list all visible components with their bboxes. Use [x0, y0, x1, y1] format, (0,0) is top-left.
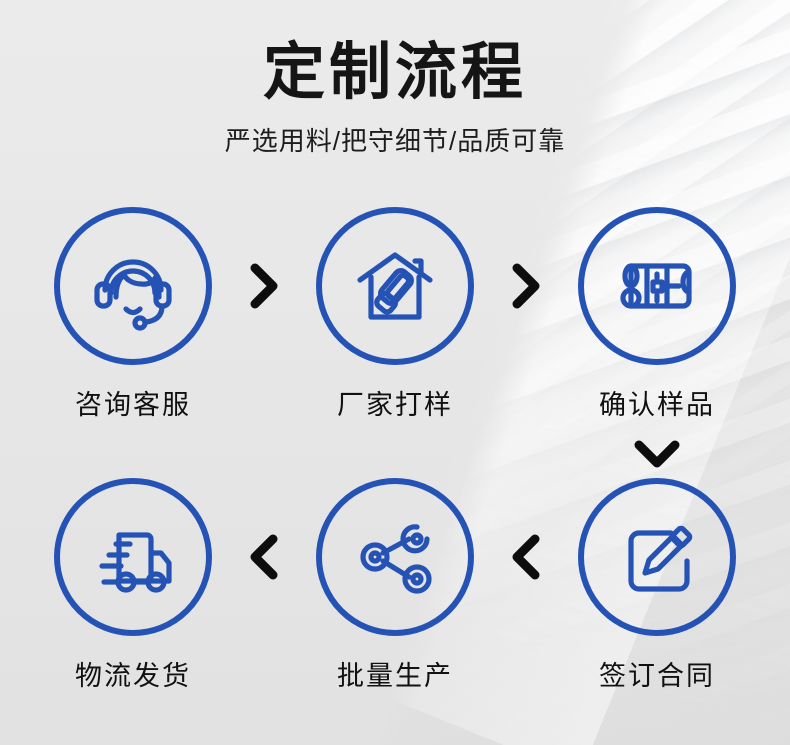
- step-label: 批量生产: [337, 654, 453, 693]
- process-row-top: 咨询客服: [0, 207, 790, 422]
- document-pencil-icon: [609, 509, 705, 605]
- chevron-right-icon: [247, 260, 281, 312]
- step-label: 咨询客服: [75, 383, 191, 422]
- connector-arrow: [228, 478, 300, 636]
- step-icon-circle: [578, 478, 736, 636]
- delivery-truck-icon: [85, 509, 181, 605]
- step-icon-circle: [316, 207, 474, 365]
- chevron-left-icon: [509, 531, 543, 583]
- step-logistics-shipping[interactable]: 物流发货: [38, 478, 228, 693]
- step-label: 签订合同: [599, 654, 715, 693]
- step-mass-production[interactable]: 批量生产: [300, 478, 490, 693]
- step-sign-contract[interactable]: 签订合同: [562, 478, 752, 693]
- connector-arrow: [490, 207, 562, 365]
- step-icon-circle: [54, 207, 212, 365]
- chevron-right-icon: [509, 260, 543, 312]
- step-factory-sampling[interactable]: 厂家打样: [300, 207, 490, 422]
- page-subtitle: 严选用料/把守细节/品质可靠: [0, 121, 790, 158]
- step-icon-circle: [54, 478, 212, 636]
- poster-header: 定制流程 严选用料/把守细节/品质可靠: [0, 0, 790, 158]
- connector-arrow: [490, 478, 562, 636]
- connector-arrow: [228, 207, 300, 365]
- headset-support-icon: [85, 238, 181, 334]
- page-title: 定制流程: [0, 40, 790, 105]
- process-flow-grid: 咨询客服: [0, 207, 790, 693]
- step-consult-customer-service[interactable]: 咨询客服: [38, 207, 228, 422]
- step-label: 物流发货: [75, 654, 191, 693]
- customization-process-poster: 定制流程 严选用料/把守细节/品质可靠: [0, 0, 790, 745]
- blueprint-scroll-icon: [609, 238, 705, 334]
- step-confirm-sample[interactable]: 确认样品: [562, 207, 752, 422]
- step-icon-circle: [578, 207, 736, 365]
- process-row-bottom: 物流发货: [0, 478, 790, 693]
- network-nodes-icon: [347, 509, 443, 605]
- house-paint-roller-icon: [347, 238, 443, 334]
- chevron-left-icon: [247, 531, 281, 583]
- step-icon-circle: [316, 478, 474, 636]
- step-label: 厂家打样: [337, 383, 453, 422]
- step-label: 确认样品: [599, 383, 715, 422]
